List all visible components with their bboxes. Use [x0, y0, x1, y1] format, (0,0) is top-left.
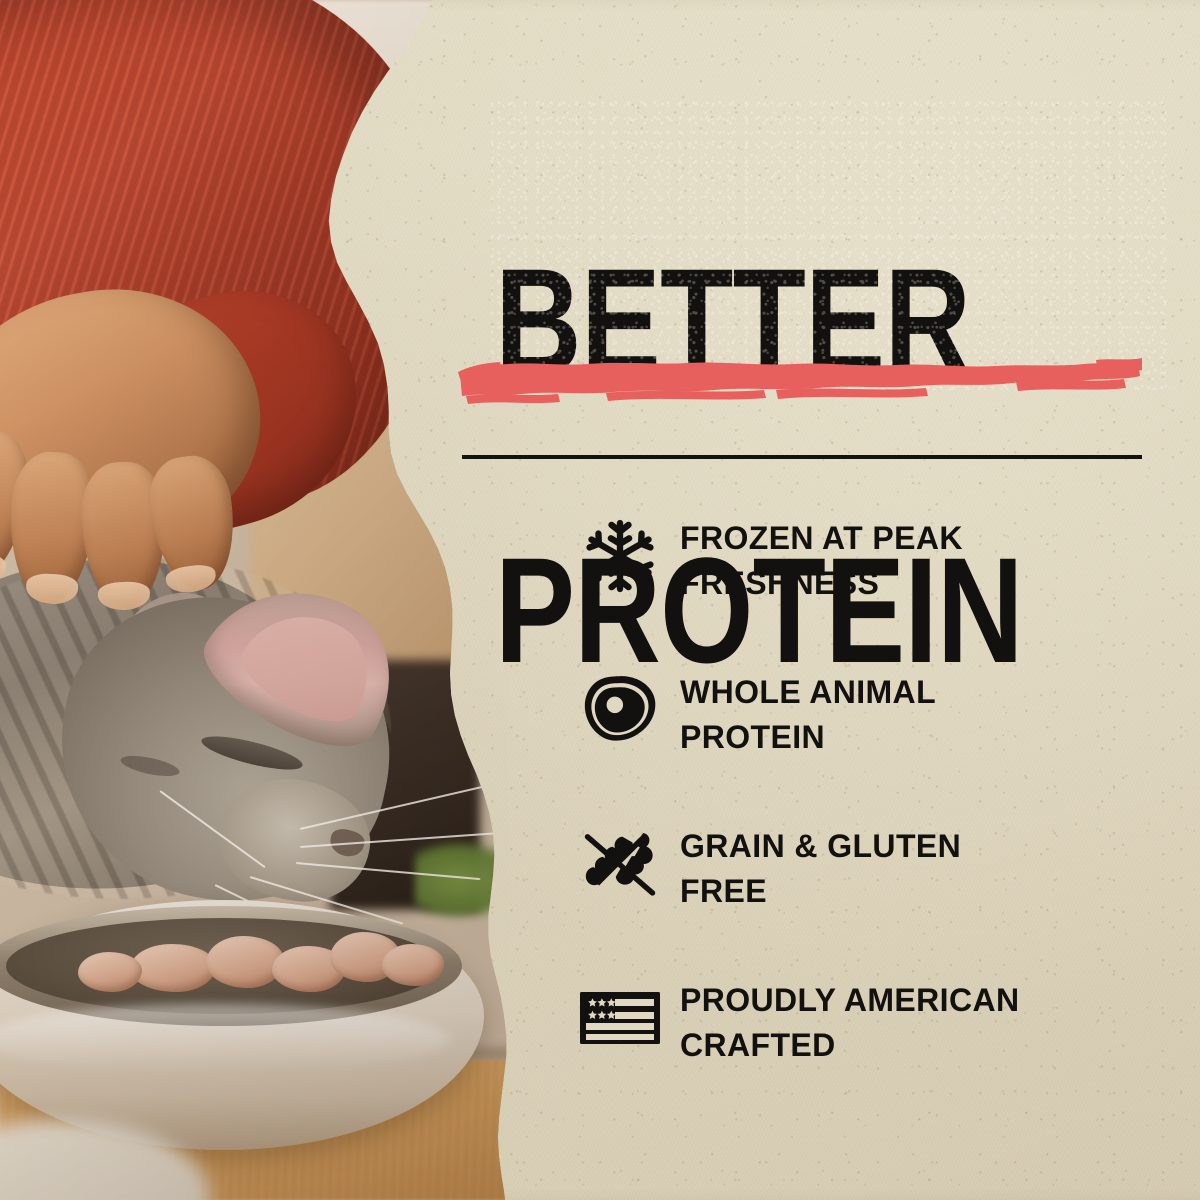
feature-item: PROUDLY AMERICAN CRAFTED [560, 974, 1160, 1128]
no-grain-icon [560, 820, 680, 902]
promo-banner: BETTER PROTEIN [0, 0, 1200, 1200]
feature-label: WHOLE ANIMAL PROTEIN [680, 666, 1160, 761]
snowflake-icon [560, 512, 680, 594]
bowl-highlight [0, 1004, 450, 1074]
american-flag-icon [560, 974, 680, 1056]
steak-icon [560, 666, 680, 748]
wet-food-chunk [206, 936, 284, 988]
feature-list: FROZEN AT PEAK FRESHNESS WHOLE ANIMAL PR… [560, 512, 1160, 1128]
wet-food-chunk [130, 944, 216, 992]
feature-item: GRAIN & GLUTEN FREE [560, 820, 1160, 974]
feature-item: FROZEN AT PEAK FRESHNESS [560, 512, 1160, 666]
wet-food-chunk [78, 952, 142, 992]
horizontal-rule [462, 455, 1142, 459]
feature-item: WHOLE ANIMAL PROTEIN [560, 666, 1160, 820]
red-paint-brush-stroke [456, 352, 1142, 414]
feature-label: GRAIN & GLUTEN FREE [680, 820, 1160, 915]
feature-label: PROUDLY AMERICAN CRAFTED [680, 974, 1160, 1069]
feature-label: FROZEN AT PEAK FRESHNESS [680, 512, 1160, 607]
wet-food-chunk [382, 944, 444, 986]
